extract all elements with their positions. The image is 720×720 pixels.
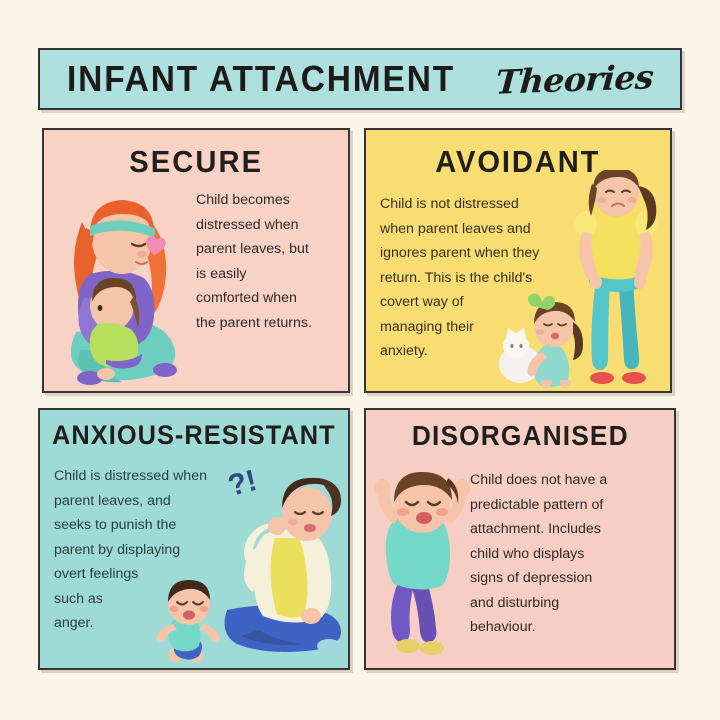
panel-disorganised: DISORGANISED Child does not have a predi… xyxy=(364,408,676,670)
panel-secure-heading-text: SECURE xyxy=(129,144,263,180)
mother-holding-child-illustration xyxy=(46,182,194,387)
page-title-script: Theories xyxy=(495,57,655,101)
panel-anxious-resistant-heading-text: ANXIOUS-RESISTANT xyxy=(52,420,336,451)
panel-anxious-resistant: ANXIOUS-RESISTANT Child is distressed wh… xyxy=(38,408,350,670)
infographic-poster: INFANT ATTACHMENT Theories SECURE Child … xyxy=(0,0,720,720)
svg-text:?!: ?! xyxy=(225,464,260,503)
girl-with-cat-illustration xyxy=(494,288,586,388)
panel-disorganised-heading: DISORGANISED xyxy=(366,420,674,452)
panel-disorganised-heading-text: DISORGANISED xyxy=(412,420,629,452)
panel-avoidant: AVOIDANT Child is not distressed when pa… xyxy=(364,128,672,393)
panel-disorganised-body: Child does not have a predictable patter… xyxy=(470,468,668,640)
title-banner: INFANT ATTACHMENT Theories xyxy=(38,48,682,110)
panel-secure-body: Child becomes distressed when parent lea… xyxy=(196,188,346,335)
panel-secure: SECURE Child becomes distressed when par… xyxy=(42,128,350,393)
crying-boy-illustration xyxy=(370,462,475,662)
crying-baby-illustration xyxy=(155,576,223,666)
page-title: INFANT ATTACHMENT xyxy=(67,58,455,100)
kneeling-father-illustration: ?! xyxy=(215,460,350,665)
panel-anxious-resistant-heading: ANXIOUS-RESISTANT xyxy=(40,420,348,451)
title-banner-inner: INFANT ATTACHMENT Theories xyxy=(67,58,653,100)
panel-secure-heading: SECURE xyxy=(44,144,348,180)
